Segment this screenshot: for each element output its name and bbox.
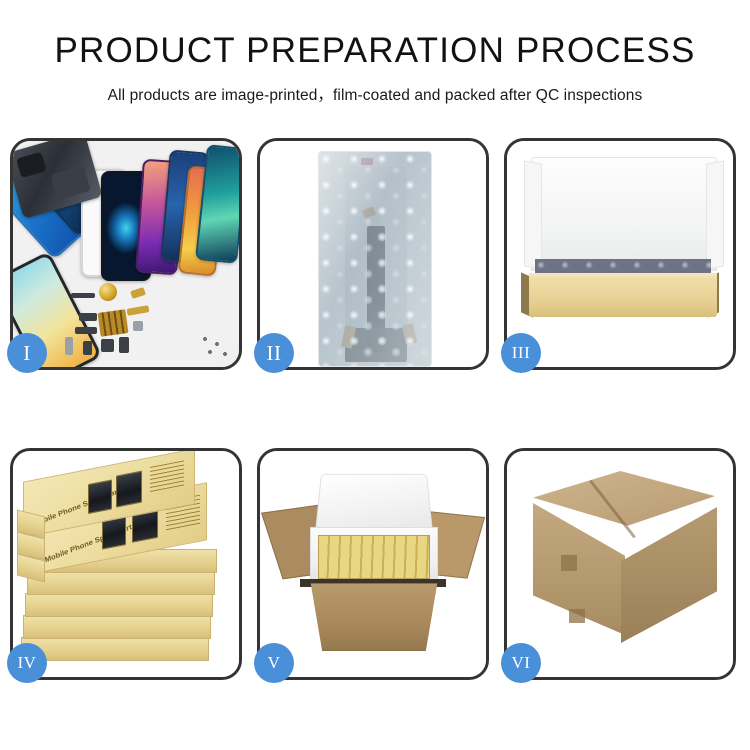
part-screws <box>201 335 231 359</box>
box-stack: Mobile Phone Spare Parts Mobile Phone Sp… <box>13 451 239 677</box>
carton-front-panel <box>302 583 446 651</box>
part-camera <box>101 339 114 352</box>
part-strip <box>71 293 95 298</box>
stack-box-4 <box>25 593 213 617</box>
step-4-image: Mobile Phone Spare Parts Mobile Phone Sp… <box>13 451 239 677</box>
step-panel-1[interactable]: I <box>10 138 242 370</box>
step-1-image <box>13 141 239 367</box>
part-gold-flex <box>130 287 146 299</box>
step-badge-3: III <box>501 333 541 373</box>
bubble-wrap-bag <box>318 151 432 367</box>
step-panel-3[interactable]: III <box>504 138 736 370</box>
step-panel-5[interactable]: V <box>257 448 489 680</box>
part-connector-b <box>75 327 97 334</box>
part-button <box>133 321 143 331</box>
part-speaker <box>83 341 92 355</box>
step-badge-1: I <box>7 333 47 373</box>
part-chip-grid <box>97 309 128 337</box>
step-panel-4[interactable]: Mobile Phone Spare Parts Mobile Phone Sp… <box>10 448 242 680</box>
part-coin <box>99 283 117 301</box>
step-badge-4: IV <box>7 643 47 683</box>
step-2-image <box>260 141 486 367</box>
step-badge-5: V <box>254 643 294 683</box>
page-title: PRODUCT PREPARATION PROCESS <box>0 33 750 70</box>
box-artwork-1a <box>88 479 112 514</box>
box-spec-lines-1 <box>150 460 184 495</box>
step-6-image <box>507 451 733 677</box>
part-sim-tray <box>65 337 73 355</box>
page-header: PRODUCT PREPARATION PROCESS All products… <box>0 0 750 105</box>
step-badge-2: II <box>254 333 294 373</box>
step-panel-2[interactable]: II <box>257 138 489 370</box>
bag-sheen <box>319 152 431 366</box>
part-gold-cable <box>127 305 150 316</box>
inner-box-front <box>529 281 717 317</box>
carton-tape-upper <box>561 555 577 571</box>
carton-tape-lower <box>569 609 585 623</box>
stack-box-3 <box>27 571 215 595</box>
part-taptic <box>119 337 129 353</box>
stack-box-5 <box>23 615 211 639</box>
page-subtitle: All products are image-printed，film-coat… <box>0 83 750 105</box>
process-step-grid: I II I <box>10 138 740 680</box>
packed-yellow-boxes <box>318 535 430 579</box>
box-artwork-1b <box>116 471 142 508</box>
step-5-image <box>260 451 486 677</box>
inner-box-lid <box>531 157 717 271</box>
stack-box-6 <box>21 637 209 661</box>
step-panel-6[interactable]: VI <box>504 448 736 680</box>
part-connector-a <box>79 313 97 321</box>
step-badge-6: VI <box>501 643 541 683</box>
carton-right-face <box>621 507 717 643</box>
step-3-image <box>507 141 733 367</box>
